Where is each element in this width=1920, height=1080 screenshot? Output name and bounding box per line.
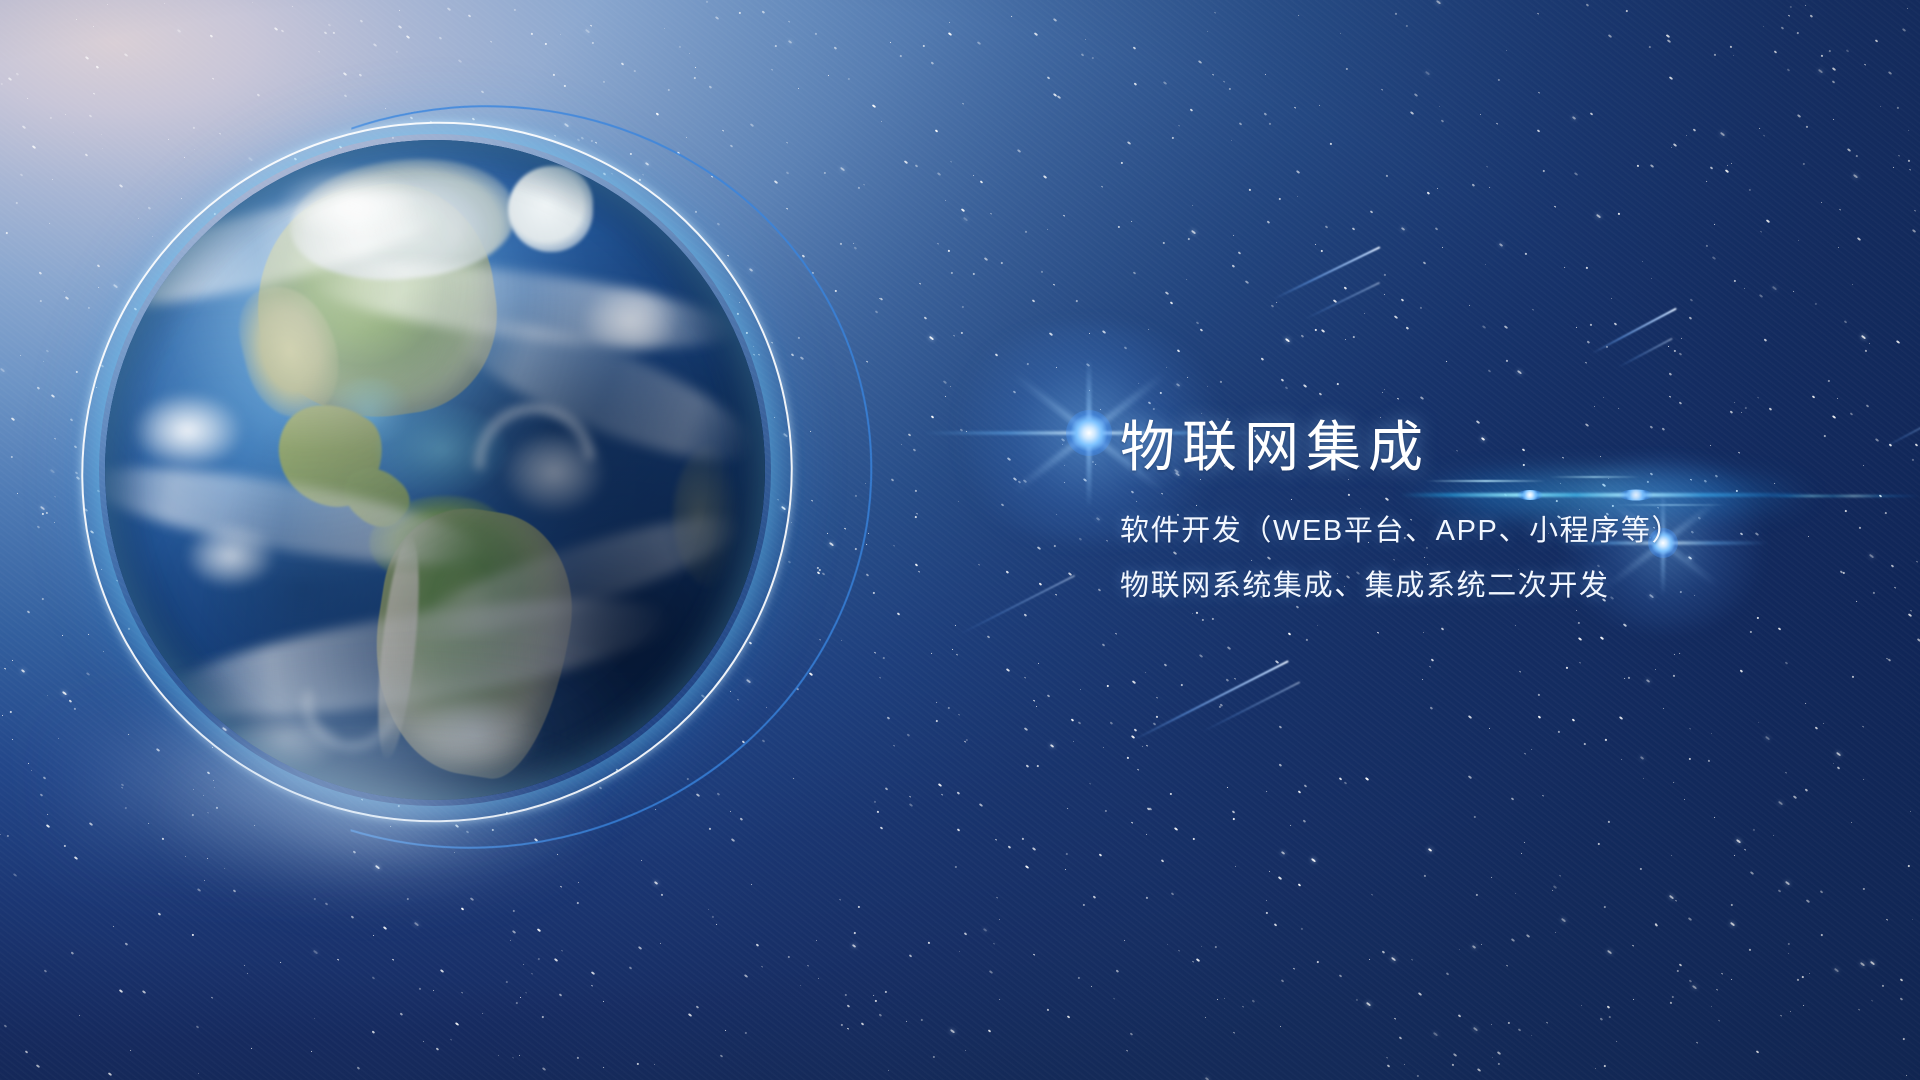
banner-copy: 物联网集成 软件开发（WEB平台、APP、小程序等） 物联网系统集成、集成系统二… bbox=[1120, 418, 1840, 601]
subtitle-line-2: 物联网系统集成、集成系统二次开发 bbox=[1120, 572, 1840, 601]
atmospheric-haze-2 bbox=[170, 760, 590, 910]
hero-banner: 物联网集成 软件开发（WEB平台、APP、小程序等） 物联网系统集成、集成系统二… bbox=[0, 0, 1920, 1080]
subtitle-line-1: 软件开发（WEB平台、APP、小程序等） bbox=[1120, 517, 1840, 546]
page-title: 物联网集成 bbox=[1120, 418, 1840, 477]
